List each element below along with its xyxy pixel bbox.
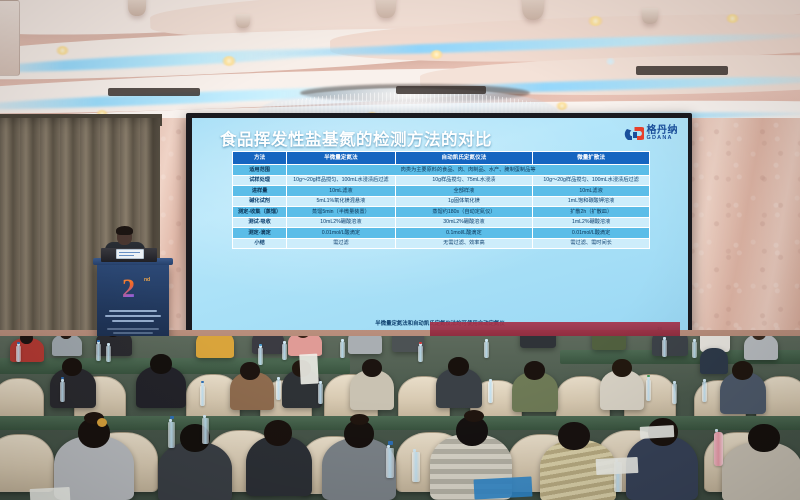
ceiling-pendant xyxy=(128,0,146,16)
row-cell: 30mL2%硼酸溶液 xyxy=(395,217,533,228)
audience-member xyxy=(52,336,82,356)
table-row: 测定-收集（蒸馏） 蒸馏5min（半微量装置） 蒸馏约180s（自动定氮仪） 扩… xyxy=(233,207,650,218)
audience-member xyxy=(348,336,382,354)
table-row: 进样量 10mL滤液 全部样液 10mL滤液 xyxy=(233,186,650,197)
water-bottle xyxy=(702,382,707,402)
row-cell: 10g～20g样品搅匀、100mL水浸渍后过滤 xyxy=(287,175,395,186)
water-bottle xyxy=(200,386,205,406)
downlight xyxy=(556,102,568,110)
table-header-cell: 自动凯氏定氮仪法 xyxy=(395,152,533,165)
water-bottle xyxy=(340,342,345,358)
row-cell-merged: 肉类为主要原料的食品、肉、肉制品、水产、腌制蛋制品等 xyxy=(287,165,650,176)
audience-head xyxy=(240,362,260,380)
water-bottle xyxy=(412,452,420,482)
ceiling-pendant xyxy=(236,14,250,28)
handout-booklet xyxy=(474,476,533,499)
water-bottle xyxy=(60,382,65,402)
downlight xyxy=(588,16,603,26)
row-cell: 10mL滤液 xyxy=(287,186,395,197)
row-cell: 0.1mol/L酸滴定 xyxy=(395,228,533,239)
row-label: 小结 xyxy=(233,238,287,249)
water-bottle xyxy=(96,344,101,361)
hair-tie xyxy=(97,418,107,427)
row-cell: 蒸馏约180s（自动定氮仪） xyxy=(395,207,533,218)
ceiling-pendant xyxy=(642,8,658,24)
downlight xyxy=(430,50,443,59)
row-cell: 1g固体氧化镁 xyxy=(395,196,533,207)
water-bottle xyxy=(418,346,423,362)
row-cell: 全部样液 xyxy=(395,186,533,197)
audience-head xyxy=(612,359,632,377)
handout-paper xyxy=(30,487,71,500)
water-bottle xyxy=(276,380,281,400)
audience-member xyxy=(96,336,132,356)
water-bottle xyxy=(168,422,175,448)
handout-paper xyxy=(640,425,675,439)
row-cell: 5mL1%氧化镁混悬液 xyxy=(287,196,395,207)
table-row: 测定-滴定 0.01mol/L酸滴定 0.1mol/L酸滴定 0.01mol/L… xyxy=(233,228,650,239)
row-label: 试样处理 xyxy=(233,175,287,186)
row-cell: 10mL2%硼酸溶液 xyxy=(287,217,395,228)
water-bottle xyxy=(106,346,111,362)
water-bottle xyxy=(258,348,263,365)
downlight xyxy=(726,14,739,23)
tote-bag xyxy=(299,354,319,385)
table-header-cell: 微量扩散法 xyxy=(533,152,650,165)
row-label: 适用范围 xyxy=(233,165,287,176)
ceiling-pendant xyxy=(522,0,544,20)
audience-member xyxy=(592,336,626,350)
table-row: 小结 需过滤 无需过滤、效率高 需过滤、需时间长 xyxy=(233,238,650,249)
row-label: 测定-滴定 xyxy=(233,228,287,239)
water-bottle xyxy=(484,342,489,358)
water-bottle xyxy=(318,384,323,404)
table-header-cell: 半微量定氮法 xyxy=(287,152,395,165)
projection-screen: 食品挥发性盐基氮的检测方法的对比 格丹纳 GDANA 方法 xyxy=(192,118,688,336)
water-bottle xyxy=(488,382,493,403)
water-bottle xyxy=(692,342,697,358)
audience-member xyxy=(252,336,284,354)
speaker-hair xyxy=(116,226,133,235)
ceiling-vent xyxy=(396,86,486,94)
water-bottle xyxy=(662,340,667,357)
table-header-cell: 方法 xyxy=(233,152,287,165)
podium-numeral: 2 xyxy=(122,276,135,302)
ceiling-pendant xyxy=(376,0,396,18)
downlight xyxy=(606,58,615,65)
row-cell: 无需过滤、效率高 xyxy=(395,238,533,249)
row-cell: 10g～20g样品搅匀、100mL水浸渍后过滤 xyxy=(533,175,650,186)
water-bottle xyxy=(16,346,21,362)
row-cell: 10g样品搅匀、75mL水浸渍 xyxy=(395,175,533,186)
water-bottle xyxy=(202,418,209,444)
row-cell: 蒸馏5min（半微量装置） xyxy=(287,207,395,218)
audience-member xyxy=(652,336,688,356)
downlight xyxy=(56,46,69,55)
gdana-swirl-logo-icon xyxy=(624,125,644,143)
audience-head xyxy=(62,358,82,376)
standing-attendee-lower xyxy=(700,348,728,374)
row-label: 进样量 xyxy=(233,186,287,197)
name-card-sign xyxy=(116,249,144,259)
row-cell: 扩散2h（扩散皿） xyxy=(533,207,650,218)
conference-room-photo: 食品挥发性盐基氮的检测方法的对比 格丹纳 GDANA 方法 xyxy=(0,0,800,500)
audience-head xyxy=(748,424,780,452)
row-cell: 0.01mol/L酸滴定 xyxy=(287,228,395,239)
slide-title: 食品挥发性盐基氮的检测方法的对比 xyxy=(220,126,492,150)
audience-head xyxy=(558,422,590,450)
row-cell: 10mL滤液 xyxy=(533,186,650,197)
audience-member xyxy=(196,336,234,358)
downlight xyxy=(222,56,236,66)
row-cell: 1mL2%硼酸溶液 xyxy=(533,217,650,228)
row-cell: 1mL饱和碳酸钾溶液 xyxy=(533,196,650,207)
audience-head xyxy=(264,420,292,446)
conference-table xyxy=(0,416,800,430)
banquet-chair xyxy=(0,434,54,492)
banquet-chair xyxy=(0,378,44,420)
audience-member xyxy=(520,336,556,348)
water-bottle xyxy=(672,384,677,404)
row-label: 碱化试剂 xyxy=(233,196,287,207)
row-label: 测定-收集（蒸馏） xyxy=(233,207,287,218)
water-bottle xyxy=(386,448,394,478)
audience-head xyxy=(524,361,545,380)
row-cell: 需过滤 xyxy=(287,238,395,249)
audience-head xyxy=(362,359,382,377)
ceiling-vent xyxy=(108,88,200,96)
water-bottle xyxy=(646,380,651,401)
table-row: 试样处理 10g～20g样品搅匀、100mL水浸渍后过滤 10g样品搅匀、75m… xyxy=(233,175,650,186)
handout-paper xyxy=(596,457,639,475)
water-bottle xyxy=(282,344,287,360)
air-conditioner-unit xyxy=(0,0,20,76)
gdana-logo: 格丹纳 GDANA xyxy=(624,125,679,143)
row-cell: 0.01mol/L酸滴定 xyxy=(533,228,650,239)
table-body: 适用范围 肉类为主要原料的食品、肉、肉制品、水产、腌制蛋制品等 试样处理 10g… xyxy=(233,165,650,249)
audience-head xyxy=(150,354,172,374)
row-cell: 需过滤、需时间长 xyxy=(533,238,650,249)
table-row: 测试-吸收 10mL2%硼酸溶液 30mL2%硼酸溶液 1mL2%硼酸溶液 xyxy=(233,217,650,228)
table-header-row: 方法 半微量定氮法 自动凯氏定氮仪法 微量扩散法 xyxy=(233,152,650,165)
ceiling-vent xyxy=(636,66,728,75)
logo-text-en: GDANA xyxy=(647,136,679,142)
table-row: 碱化试剂 5mL1%氧化镁混悬液 1g固体氧化镁 1mL饱和碳酸钾溶液 xyxy=(233,196,650,207)
audience-area xyxy=(0,336,800,500)
comparison-table: 方法 半微量定氮法 自动凯氏定氮仪法 微量扩散法 适用范围 肉类为主要原料的食品… xyxy=(232,151,650,249)
thermos-bottle xyxy=(714,432,723,466)
audience-head xyxy=(448,357,469,376)
audience-head xyxy=(732,361,753,380)
podium-superscript: nd xyxy=(144,277,150,283)
row-label: 测试-吸收 xyxy=(233,217,287,228)
table-row: 适用范围 肉类为主要原料的食品、肉、肉制品、水产、腌制蛋制品等 xyxy=(233,165,650,176)
